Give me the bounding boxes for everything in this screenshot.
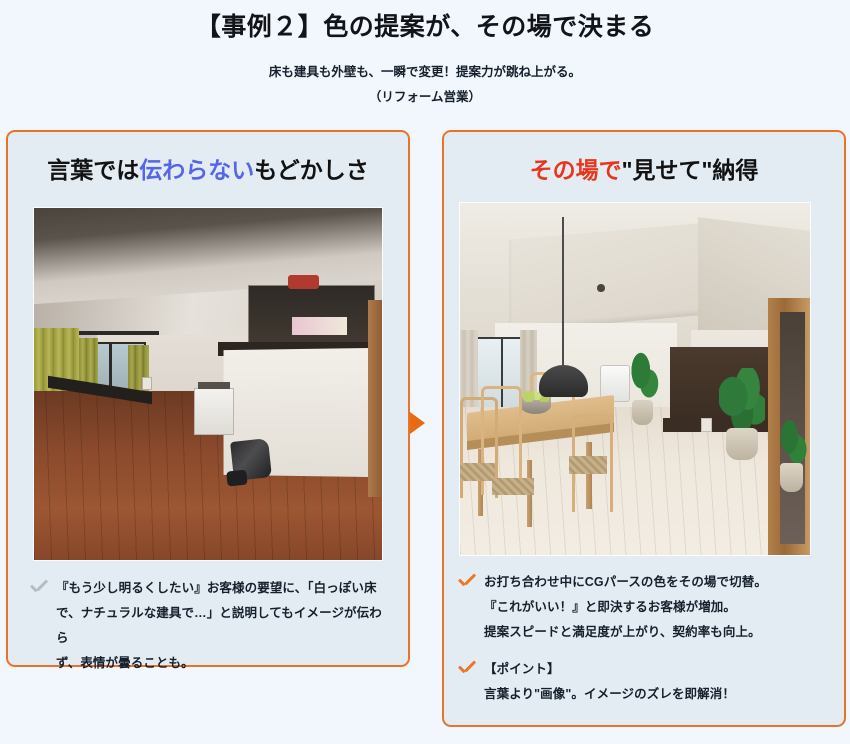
ceiling-fixture <box>597 284 605 292</box>
bullet-line: 『これがいい！』と即決するお客様が増加。 <box>484 595 767 620</box>
chair-seat <box>460 463 495 481</box>
bullet-line: お打ち合わせ中にCGパースの色をその場で切替。 <box>484 570 767 595</box>
page-subtitle-line2: （リフォーム営業） <box>0 88 850 106</box>
check-icon <box>456 660 478 678</box>
before-bullet-list: 『もう少し明るくしたい』お客様の要望に、「白っぽい床 で、ナチュラルな建具で…」… <box>8 576 408 688</box>
before-heading-highlight: 伝わらない <box>139 157 254 183</box>
before-scene <box>34 208 382 560</box>
list-item: 【ポイント】 言葉より"画像"。イメージのズレを即解消！ <box>456 657 826 707</box>
after-heading-rest: "見せて"納得 <box>622 157 759 183</box>
bullet-line: 言葉より"画像"。イメージのズレを即解消！ <box>484 682 735 707</box>
before-bullet-text: 『もう少し明るくしたい』お客様の要望に、「白っぽい床 で、ナチュラルな建具で…」… <box>56 576 386 676</box>
after-bullet-text-2: 【ポイント】 言葉より"画像"。イメージのズレを即解消！ <box>484 657 735 707</box>
potted-plant-far <box>775 414 807 470</box>
list-item: 『もう少し明るくしたい』お客様の要望に、「白っぽい床 で、ナチュラルな建具で…」… <box>28 576 386 676</box>
after-panel-heading: その場で"見せて"納得 <box>444 155 844 185</box>
list-item: お打ち合わせ中にCGパースの色をその場で切替。 『これがいい！』と即決するお客様… <box>456 570 826 645</box>
check-icon <box>28 579 50 597</box>
before-heading-part2: もどかしさ <box>254 157 369 183</box>
wall-outlet <box>142 377 152 390</box>
floor-appliance <box>194 388 234 436</box>
after-heading-highlight: その場で <box>530 157 622 183</box>
backpack <box>230 438 272 481</box>
curtain-rod <box>69 331 159 335</box>
triangle-right-icon <box>410 412 425 434</box>
after-bullet-text-1: お打ち合わせ中にCGパースの色をその場で切替。 『これがいい！』と即決するお客様… <box>484 570 767 645</box>
after-cg-render-photo <box>460 203 810 555</box>
before-panel: 言葉では伝わらないもどかしさ <box>6 130 410 667</box>
red-object <box>288 275 319 289</box>
pendant-lamp-cord <box>562 217 564 372</box>
plant-pot-mid <box>632 400 653 425</box>
ceiling-recess <box>509 222 712 331</box>
chair-seat <box>492 478 534 496</box>
bullet-line: 【ポイント】 <box>484 657 735 682</box>
bullet-line: で、ナチュラルな建具で…」と説明してもイメージが伝わら <box>56 601 386 651</box>
potted-plant-mid <box>628 351 660 407</box>
after-scene <box>460 203 810 555</box>
page-title: 【事例２】色の提案が、その場で決まる <box>0 10 850 44</box>
check-icon <box>456 573 478 591</box>
before-heading-part1: 言葉では <box>47 157 139 183</box>
bullet-line: 提案スピードと満足度が上がり、契約率も向上。 <box>484 620 767 645</box>
wood-pillar <box>368 300 382 497</box>
wall-switch <box>701 418 712 432</box>
papers-on-counter <box>292 317 348 335</box>
bullet-line: 『もう少し明るくしたい』お客様の要望に、「白っぽい床 <box>56 576 386 601</box>
chair-seat <box>569 456 608 474</box>
plant-pot-large <box>726 428 758 460</box>
after-panel: その場で"見せて"納得 <box>442 130 846 727</box>
page-subtitle-line1: 床も建具も外壁も、一瞬で変更！提案力が跳ね上がる。 <box>0 63 850 81</box>
before-panel-heading: 言葉では伝わらないもどかしさ <box>8 155 408 185</box>
plant-pot-far <box>780 463 803 491</box>
before-room-photo <box>34 208 382 560</box>
bullet-line: ず、表情が曇ることも。 <box>56 651 386 676</box>
after-bullet-list: お打ち合わせ中にCGパースの色をその場で切替。 『これがいい！』と即決するお客様… <box>444 570 844 719</box>
